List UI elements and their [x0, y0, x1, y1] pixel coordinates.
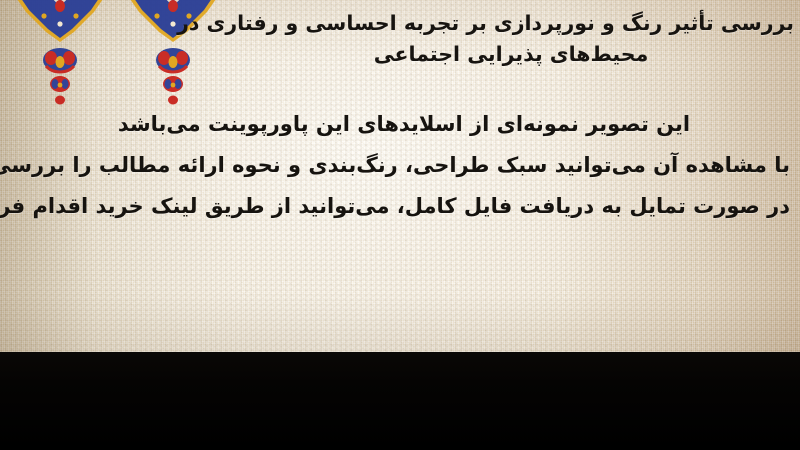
carpet-fringe-area: [0, 352, 800, 450]
slide-title-line-2: محیط‌های پذیرایی اجتماعی: [228, 39, 794, 70]
black-background-band: [0, 352, 800, 450]
slide-title-line-1: بررسی تأثیر رنگ و نورپردازی بر تجربه احس…: [228, 8, 794, 39]
presentation-slide: بررسی تأثیر رنگ و نورپردازی بر تجربه احس…: [0, 0, 800, 450]
medallion-left: [8, 0, 112, 105]
slide-body-text: این تصویر نمونه‌ای از اسلایدهای این پاور…: [18, 104, 790, 227]
body-line-sample-notice: این تصویر نمونه‌ای از اسلایدهای این پاور…: [18, 104, 790, 145]
body-line-design-review: با مشاهده آن می‌توانید سبک طراحی، رنگ‌بن…: [18, 145, 790, 186]
body-line-purchase-link: در صورت تمایل به دریافت فایل کامل، می‌تو…: [18, 186, 790, 227]
slide-title: بررسی تأثیر رنگ و نورپردازی بر تجربه احس…: [228, 8, 794, 70]
